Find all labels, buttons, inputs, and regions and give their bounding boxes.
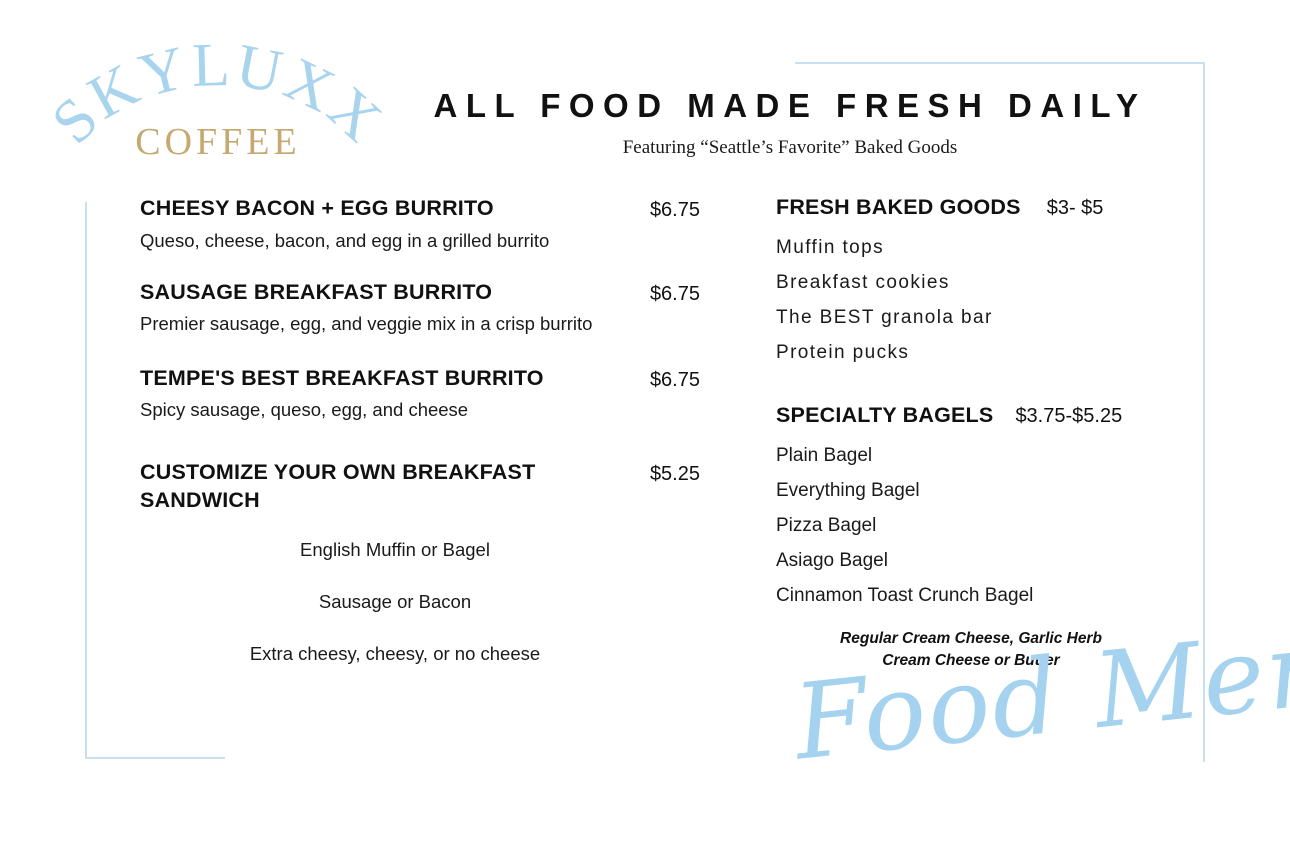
- customization-option: English Muffin or Bagel: [140, 538, 650, 562]
- menu-page: SKYLUXX COFFEE ALL FOOD MADE FRESH DAILY…: [0, 0, 1290, 843]
- menu-item-price: $5.25: [640, 459, 700, 486]
- left-menu-column: CHEESY BACON + EGG BURRITO $6.75 Queso, …: [140, 195, 700, 667]
- list-item: Protein pucks: [776, 336, 1206, 371]
- menu-item-price: $6.75: [640, 279, 700, 306]
- menu-item-description: Premier sausage, egg, and veggie mix in …: [140, 311, 600, 337]
- menu-item-description: Queso, cheese, bacon, and egg in a grill…: [140, 228, 600, 254]
- menu-section-fresh-baked-goods: FRESH BAKED GOODS $3- $5 Muffin tops Bre…: [776, 195, 1206, 371]
- menu-item-price: $6.75: [640, 365, 700, 392]
- list-item: Plain Bagel: [776, 439, 1206, 474]
- list-item: Cinnamon Toast Crunch Bagel: [776, 579, 1206, 614]
- customization-option: Extra cheesy, cheesy, or no cheese: [140, 642, 650, 666]
- page-subtitle: Featuring “Seattle’s Favorite” Baked Goo…: [395, 137, 1185, 159]
- frame-bottom-left-line: [85, 757, 225, 759]
- frame-left-vertical-line: [85, 202, 87, 759]
- menu-item-description: Spicy sausage, queso, egg, and cheese: [140, 397, 600, 423]
- section-price: $3.75-$5.25: [1015, 405, 1122, 428]
- list-item: Everything Bagel: [776, 474, 1206, 509]
- customization-option: Sausage or Bacon: [140, 590, 650, 614]
- menu-item-name: CHEESY BACON + EGG BURRITO: [140, 195, 494, 223]
- menu-item: CHEESY BACON + EGG BURRITO $6.75 Queso, …: [140, 195, 700, 254]
- menu-item-name: CUSTOMIZE YOUR OWN BREAKFAST SANDWICH: [140, 459, 610, 514]
- brand-coffee-text: COFFEE: [48, 123, 388, 161]
- list-item: Pizza Bagel: [776, 509, 1206, 544]
- menu-header: ALL FOOD MADE FRESH DAILY Featuring “Sea…: [395, 88, 1185, 159]
- menu-item-name: SAUSAGE BREAKFAST BURRITO: [140, 279, 492, 307]
- menu-item: CUSTOMIZE YOUR OWN BREAKFAST SANDWICH $5…: [140, 459, 700, 514]
- frame-top-right-line: [795, 62, 1205, 64]
- section-item-list: Muffin tops Breakfast cookies The BEST g…: [776, 231, 1206, 371]
- customization-options: English Muffin or Bagel Sausage or Bacon…: [140, 538, 650, 666]
- section-title: FRESH BAKED GOODS: [776, 195, 1021, 220]
- menu-item: TEMPE'S BEST BREAKFAST BURRITO $6.75 Spi…: [140, 365, 700, 424]
- menu-item-price: $6.75: [640, 195, 700, 222]
- right-menu-column: FRESH BAKED GOODS $3- $5 Muffin tops Bre…: [776, 195, 1206, 673]
- page-title: ALL FOOD MADE FRESH DAILY: [395, 88, 1185, 124]
- menu-item-name: TEMPE'S BEST BREAKFAST BURRITO: [140, 365, 544, 393]
- menu-item: SAUSAGE BREAKFAST BURRITO $6.75 Premier …: [140, 279, 700, 338]
- section-title: SPECIALTY BAGELS: [776, 403, 993, 428]
- list-item: The BEST granola bar: [776, 301, 1206, 336]
- list-item: Muffin tops: [776, 231, 1206, 266]
- section-price: $3- $5: [1047, 197, 1104, 220]
- brand-logo: SKYLUXX COFFEE: [48, 18, 388, 168]
- section-item-list: Plain Bagel Everything Bagel Pizza Bagel…: [776, 439, 1206, 614]
- list-item: Asiago Bagel: [776, 544, 1206, 579]
- list-item: Breakfast cookies: [776, 266, 1206, 301]
